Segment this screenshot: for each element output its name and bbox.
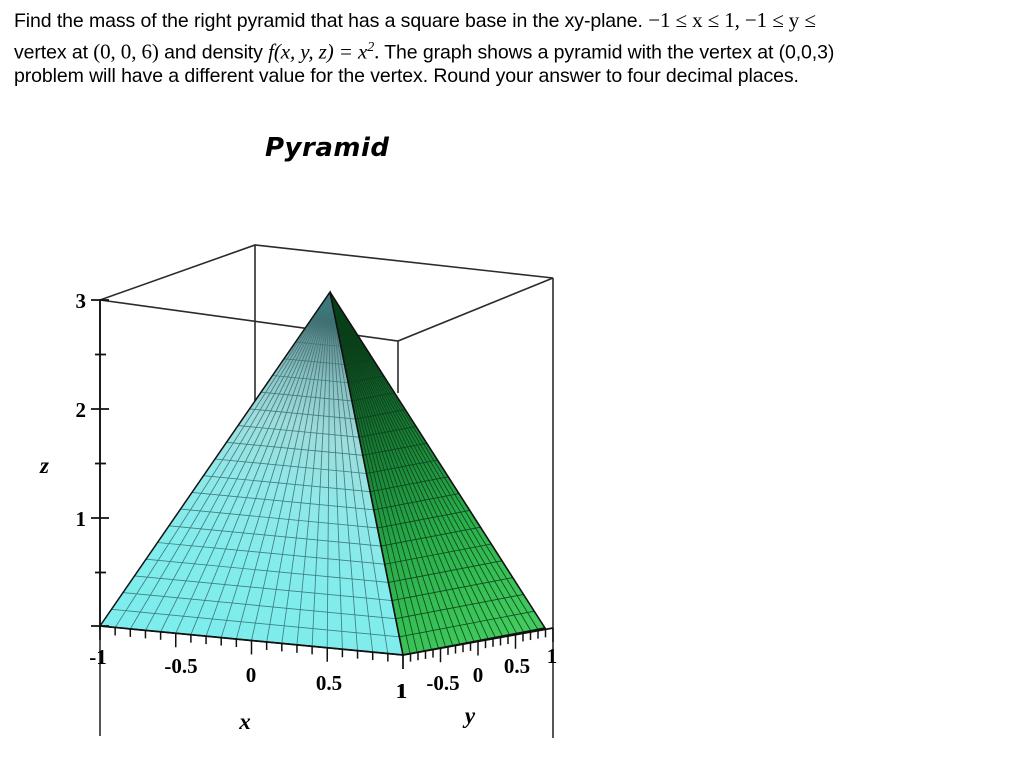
problem-statement: Find the mass of the right pyramid that … [14,6,1024,90]
problem-line-2-text-b: and density [164,42,263,64]
y-tick-label-0.5: 0.5 [504,654,530,678]
problem-density-function: f(x, y, z) = x [268,40,367,64]
x-tick-label-0.5: 0.5 [316,671,342,695]
problem-line-2-text-a: vertex at [14,42,88,64]
z-axis-tick-labels: 3 2 1 [76,289,87,531]
z-tick-label-2: 2 [76,398,87,422]
problem-vertex-point: (0, 0, 6) [93,40,159,64]
x-tick-label-0: 0 [246,663,257,687]
z-axis-label: z [39,453,49,478]
problem-line-1-math: −1 ≤ x ≤ 1, −1 ≤ y ≤ [648,8,816,32]
x-axis-tick-labels: -1 -0.5 0 0.5 1 [89,645,406,703]
problem-line-1: Find the mass of the right pyramid that … [14,6,1024,34]
pyramid-plot: Pyramid [0,110,640,757]
problem-line-3: problem will have a different value for … [14,62,1024,90]
problem-line-1-text: Find the mass of the right pyramid that … [14,10,643,32]
y-axis-label: y [462,703,476,728]
problem-line-2: vertex at (0, 0, 6) and density f(x, y, … [14,34,1024,62]
x-tick-label--0.5: -0.5 [164,654,197,678]
z-tick-label-1: 1 [76,507,87,531]
y-axis-tick-labels: 1 -0.5 0 0.5 1 [397,644,558,703]
y-tick-label--0.5: -0.5 [426,671,459,695]
problem-density-period: . [374,40,379,64]
y-tick-label-0: 0 [473,663,484,687]
x-tick-label--1: -1 [89,645,107,669]
problem-line-2-text-c: The graph shows a pyramid with the verte… [384,42,834,64]
x-axis-label: x [238,709,251,734]
y-tick-label--1: 1 [397,679,408,703]
pyramid-3d-surface: 3 2 1 z [0,110,640,757]
y-tick-label-1: 1 [547,644,558,668]
z-tick-label-3: 3 [76,289,87,313]
